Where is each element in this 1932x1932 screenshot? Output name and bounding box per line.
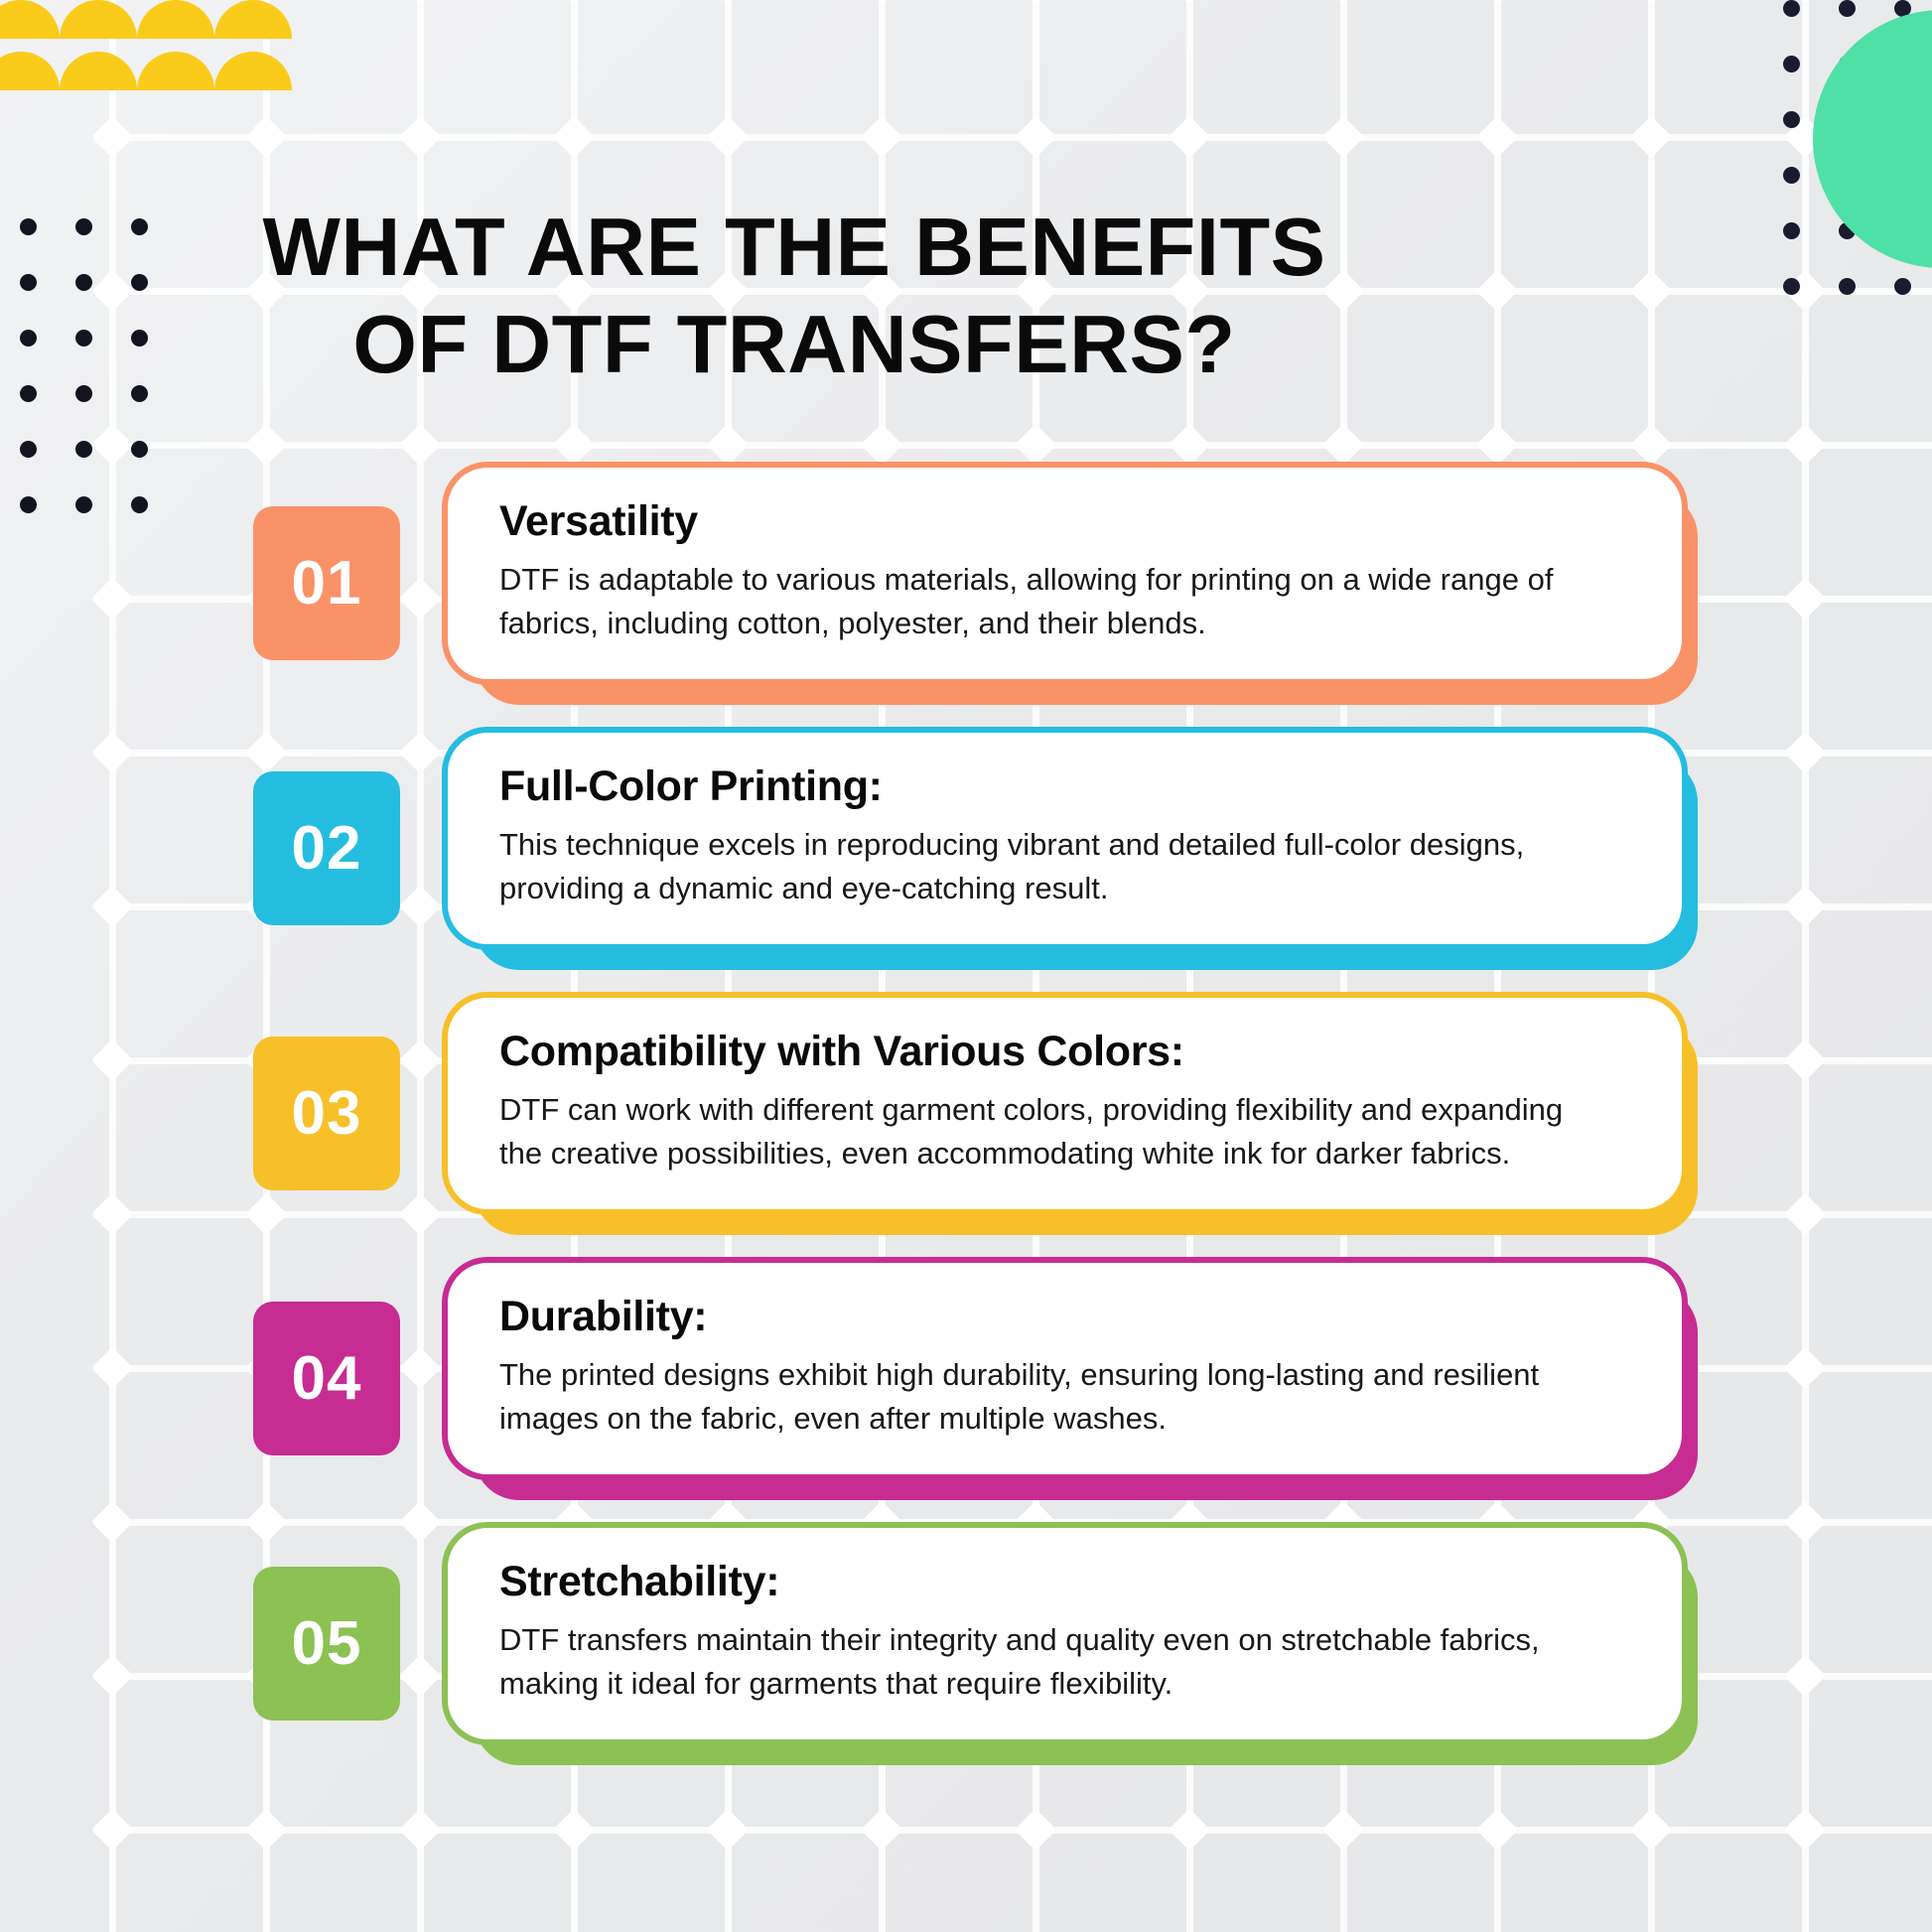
card-surface: Stretchability:DTF transfers maintain th…: [442, 1522, 1688, 1745]
card-surface: Full-Color Printing:This technique excel…: [442, 727, 1688, 950]
card-surface: VersatilityDTF is adaptable to various m…: [442, 462, 1688, 685]
benefit-number-badge: 04: [253, 1302, 400, 1455]
card-surface: Durability:The printed designs exhibit h…: [442, 1257, 1688, 1480]
benefit-title: Compatibility with Various Colors:: [499, 1028, 1630, 1076]
benefit-body-text: This technique excels in reproducing vib…: [499, 823, 1582, 910]
benefit-number-badge: 03: [253, 1036, 400, 1190]
benefit-card[interactable]: Full-Color Printing:This technique excel…: [442, 727, 1688, 950]
benefit-card[interactable]: VersatilityDTF is adaptable to various m…: [442, 462, 1688, 685]
benefit-title: Durability:: [499, 1293, 1630, 1341]
benefit-number-label: 01: [292, 548, 362, 619]
benefit-number-label: 02: [292, 813, 362, 884]
benefit-number-badge: 05: [253, 1567, 400, 1721]
benefit-title: Stretchability:: [499, 1558, 1630, 1606]
benefit-card[interactable]: Compatibility with Various Colors:DTF ca…: [442, 992, 1688, 1215]
benefit-title: Versatility: [499, 497, 1630, 546]
benefit-body-text: DTF is adaptable to various materials, a…: [499, 558, 1582, 645]
benefit-card-list: 01VersatilityDTF is adaptable to various…: [0, 0, 1932, 1932]
card-surface: Compatibility with Various Colors:DTF ca…: [442, 992, 1688, 1215]
benefit-number-badge: 02: [253, 771, 400, 925]
benefit-title: Full-Color Printing:: [499, 762, 1630, 811]
benefit-body-text: The printed designs exhibit high durabil…: [499, 1353, 1582, 1441]
benefit-number-label: 05: [292, 1608, 362, 1679]
benefit-body-text: DTF transfers maintain their integrity a…: [499, 1618, 1582, 1706]
benefit-number-label: 04: [292, 1343, 362, 1414]
benefit-number-label: 03: [292, 1078, 362, 1149]
benefit-number-badge: 01: [253, 506, 400, 660]
benefit-card[interactable]: Durability:The printed designs exhibit h…: [442, 1257, 1688, 1480]
benefit-body-text: DTF can work with different garment colo…: [499, 1088, 1582, 1175]
benefit-card[interactable]: Stretchability:DTF transfers maintain th…: [442, 1522, 1688, 1745]
